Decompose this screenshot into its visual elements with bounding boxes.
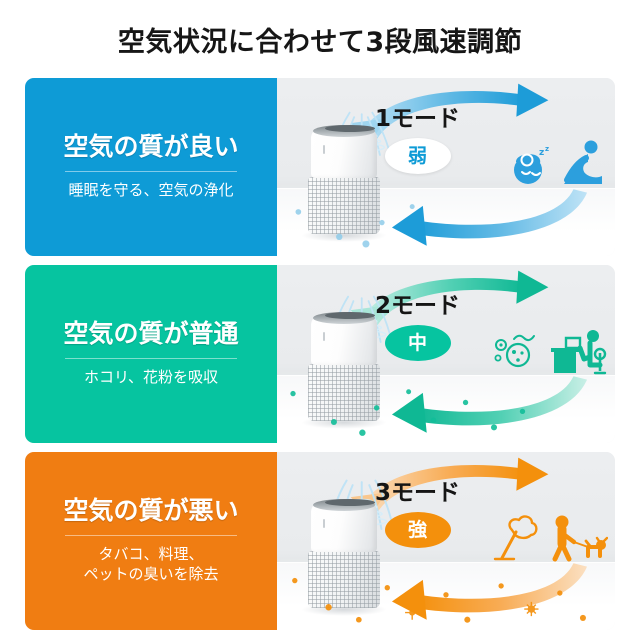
svg-text:z: z [545, 145, 549, 153]
mode-label-bad: 3モード [375, 482, 460, 505]
desk-worker-icon [550, 327, 608, 375]
device-top-vent [325, 312, 375, 319]
pollen-dust-icon [492, 331, 546, 375]
panel-good: 空気の質が良い 睡眠を守る、空気の浄化 [25, 78, 277, 256]
cigarette-smoke-icon [490, 514, 540, 562]
panel-bad: 空気の質が悪い タバコ、料理、 ペットの臭いを除去 [25, 452, 277, 630]
panel-subtitle-good: 睡眠を守る、空気の浄化 [68, 180, 233, 201]
mode-row-good: 空気の質が良い 睡眠を守る、空気の浄化 [25, 78, 615, 256]
illustration-good: 1モード 弱 z z [277, 78, 615, 256]
device-top-vent [325, 125, 375, 132]
panel-divider [65, 358, 237, 359]
device-top-ring [313, 499, 375, 511]
svg-text:z: z [539, 148, 544, 158]
scene-icons-normal [492, 308, 608, 376]
device-top-ring [313, 312, 375, 324]
mode-row-normal: 空気の質が普通 ホコリ、花粉を吸収 [25, 265, 615, 443]
yoga-person-icon [558, 138, 608, 188]
page-title: 空気状況に合わせて3段風速調節 [118, 20, 522, 59]
panel-title-bad: 空気の質が悪い [63, 497, 238, 526]
scene-icons-bad [490, 495, 608, 563]
panel-divider [65, 535, 237, 536]
mode-block-good: 1モード 弱 [375, 108, 460, 174]
illustration-normal: 2モード 中 [277, 265, 615, 443]
mode-block-normal: 2モード 中 [375, 295, 460, 361]
device-top-vent [325, 499, 375, 506]
sleeping-baby-icon: z z [508, 144, 554, 188]
panel-normal: 空気の質が普通 ホコリ、花粉を吸収 [25, 265, 277, 443]
header: 空気状況に合わせて3段風速調節 [0, 0, 640, 72]
panel-subtitle-bad-line1: タバコ、料理、 [98, 544, 203, 565]
mode-badge-bad: 強 [385, 512, 451, 548]
mode-badge-good: 弱 [385, 138, 451, 174]
illustration-bad: 3モード 強 [277, 452, 615, 630]
mode-rows: 空気の質が良い 睡眠を守る、空気の浄化 [25, 78, 615, 630]
mode-badge-normal: 中 [385, 325, 451, 361]
infographic-page: 空気状況に合わせて3段風速調節 空気の質が良い 睡眠を守る、空気の浄化 [0, 0, 640, 640]
panel-divider [65, 171, 237, 172]
panel-subtitle-normal: ホコリ、花粉を吸収 [84, 367, 218, 388]
scene-icons-good: z z [508, 121, 608, 189]
mode-row-bad: 空気の質が悪い タバコ、料理、 ペットの臭いを除去 [25, 452, 615, 630]
mode-label-good: 1モード [375, 108, 460, 131]
panel-title-normal: 空気の質が普通 [63, 320, 238, 349]
panel-subtitle-bad-line2: ペットの臭いを除去 [83, 564, 218, 585]
device-top-ring [313, 125, 375, 137]
panel-title-good: 空気の質が良い [63, 133, 238, 162]
dog-walking-person-icon [544, 514, 608, 562]
mode-label-normal: 2モード [375, 295, 460, 318]
mode-block-bad: 3モード 強 [375, 482, 460, 548]
